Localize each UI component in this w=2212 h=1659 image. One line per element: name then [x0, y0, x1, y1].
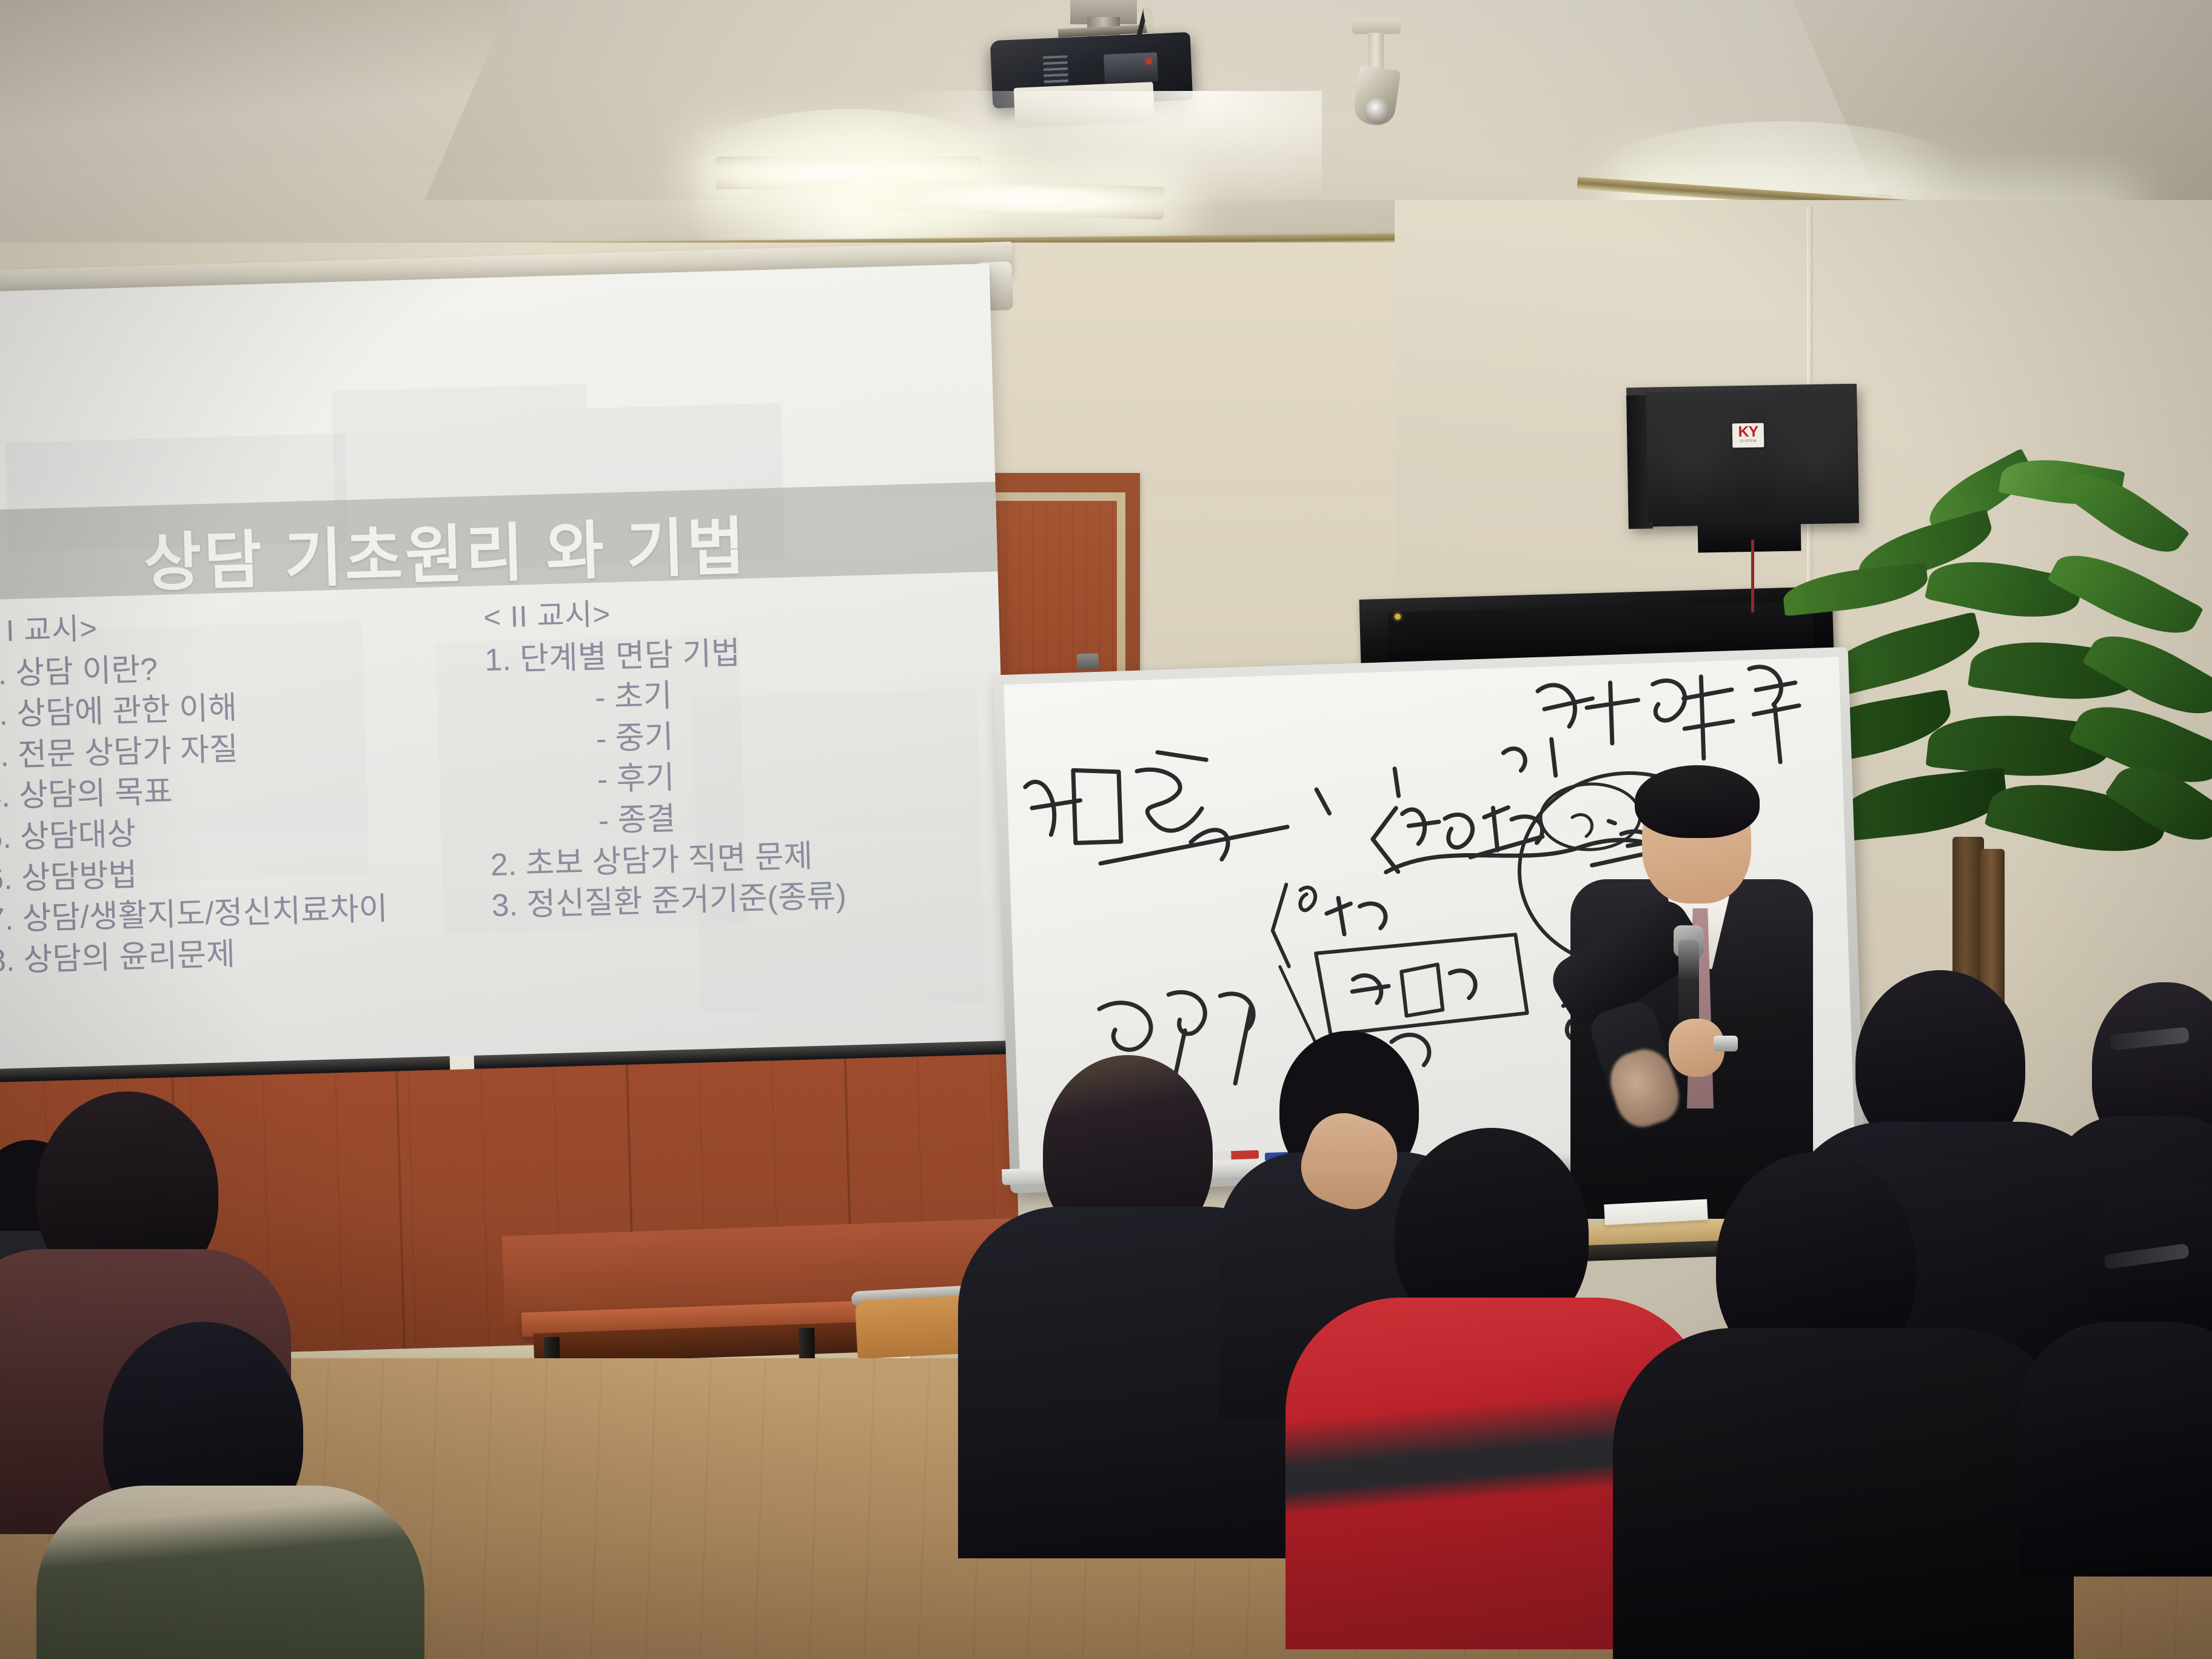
presenter-wristwatch: [1714, 1036, 1738, 1051]
plant-leaf: [1781, 563, 1929, 617]
spotlight-arm: [1368, 33, 1384, 72]
projector-vent: [1043, 55, 1068, 84]
presenter-hair: [1635, 765, 1760, 838]
slide-right-column: < II 교시> 1. 단계별 면담 기법 - 초기 - 중기 - 후기 - 종…: [483, 585, 996, 927]
spotlight-base: [1352, 18, 1401, 34]
attendee-body-foreground-right: [1613, 1328, 2074, 1659]
av-panel-led-icon: [1395, 614, 1401, 620]
ky-brand-badge: KY SYSTEM: [1732, 423, 1765, 448]
projector-port-panel: [1104, 52, 1158, 84]
slide-body: < I 교시> 1. 상담 이란? 2. 상담에 관한 이해 3. 전문 상담가…: [0, 585, 1011, 1074]
plant-leaf: [2061, 458, 2190, 568]
slide-left-column: < I 교시> 1. 상담 이란? 2. 상담에 관한 이해 3. 전문 상담가…: [0, 599, 504, 982]
classroom-scene: 상담 기초원리 와 기법 < I 교시> 1. 상담 이란? 2. 상담에 관한…: [0, 0, 2212, 1659]
attendee-body-far-right-front: [2019, 1322, 2212, 1577]
projection-screen: 상담 기초원리 와 기법 < I 교시> 1. 상담 이란? 2. 상담에 관한…: [0, 264, 1011, 1087]
whiteboard-clip: [1077, 653, 1099, 669]
attendee-body-olive-jacket: [36, 1486, 424, 1659]
ky-logo-text: KY: [1738, 424, 1758, 440]
ky-badge-subtext: SYSTEM: [1740, 440, 1757, 443]
red-marker[interactable]: [1213, 1150, 1259, 1161]
track-spotlight: [1340, 18, 1413, 139]
projector-light-beam: [897, 91, 1322, 212]
